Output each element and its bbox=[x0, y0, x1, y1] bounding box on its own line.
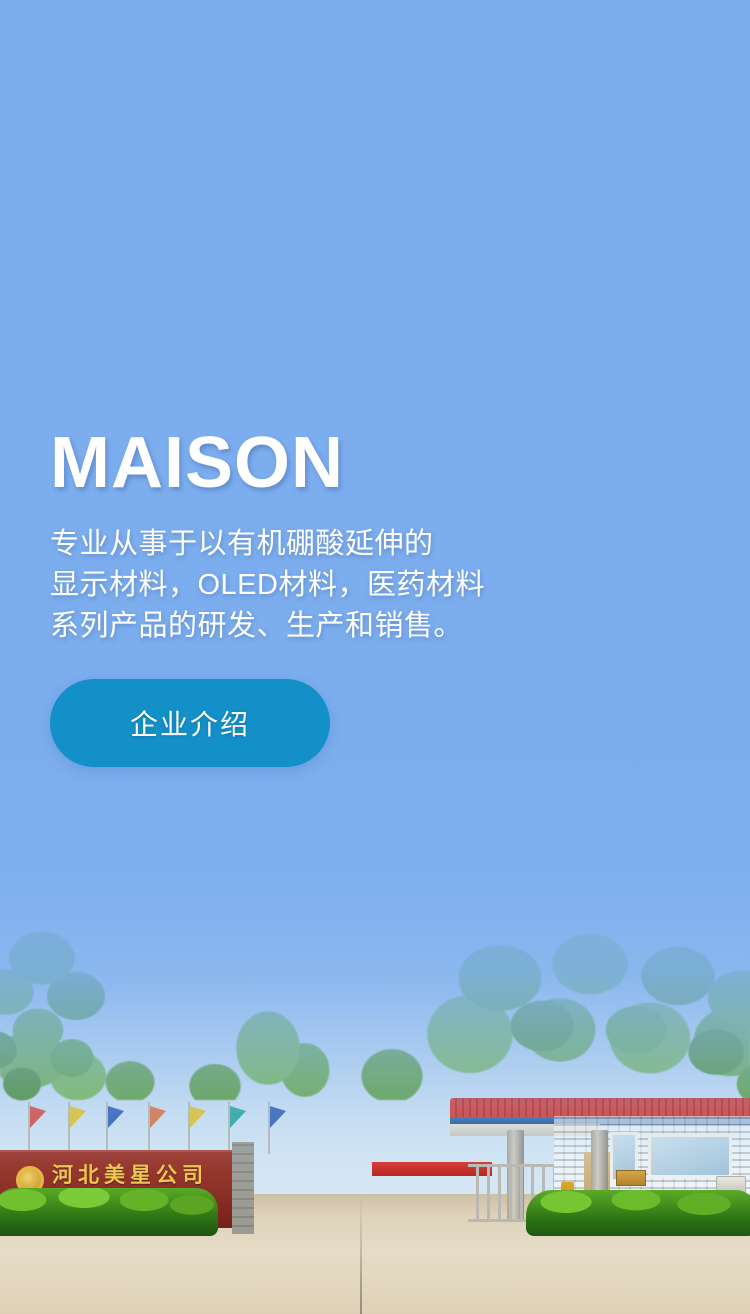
subtitle-line-3: 系列产品的研发、生产和销售。 bbox=[50, 606, 690, 647]
hero-subtitle: 专业从事于以有机硼酸延伸的 显示材料，OLED材料，医药材料 系列产品的研发、生… bbox=[50, 524, 690, 647]
subtitle-line-1: 专业从事于以有机硼酸延伸的 bbox=[50, 524, 690, 565]
page-title: MAISON bbox=[50, 424, 690, 502]
company-intro-button[interactable]: 企业介绍 bbox=[50, 679, 330, 767]
subtitle-line-2: 显示材料，OLED材料，医药材料 bbox=[50, 565, 690, 606]
hero-content: MAISON 专业从事于以有机硼酸延伸的 显示材料，OLED材料，医药材料 系列… bbox=[50, 424, 690, 767]
company-intro-button-label: 企业介绍 bbox=[130, 703, 250, 743]
hero-banner: 河北美星公司 MAISON CHEMICAL MAISON bbox=[0, 0, 750, 1314]
